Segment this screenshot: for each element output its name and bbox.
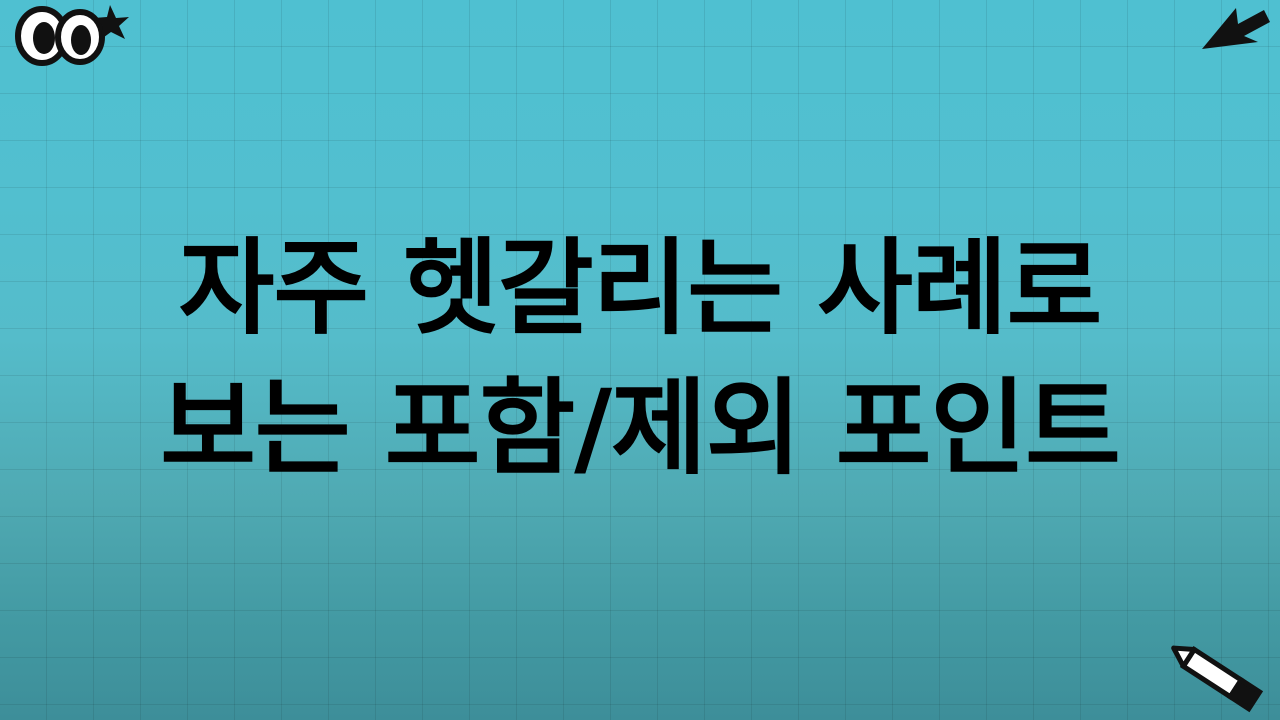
arrow-shape xyxy=(1202,8,1270,49)
headline: 자주 헷갈리는 사례로 보는 포함/제외 포인트 xyxy=(0,218,1280,498)
eyes-star-icon xyxy=(10,2,130,70)
pupil-left-icon xyxy=(33,22,55,54)
headline-line-2: 보는 포함/제외 포인트 xyxy=(0,358,1280,498)
pupil-right-icon xyxy=(71,25,91,55)
pencil-icon xyxy=(1162,636,1272,714)
cursor-arrow-icon xyxy=(1198,4,1274,64)
eye-right-group xyxy=(58,12,102,62)
title-card: 자주 헷갈리는 사례로 보는 포함/제외 포인트 xyxy=(0,0,1280,720)
headline-line-1: 자주 헷갈리는 사례로 xyxy=(0,218,1280,358)
